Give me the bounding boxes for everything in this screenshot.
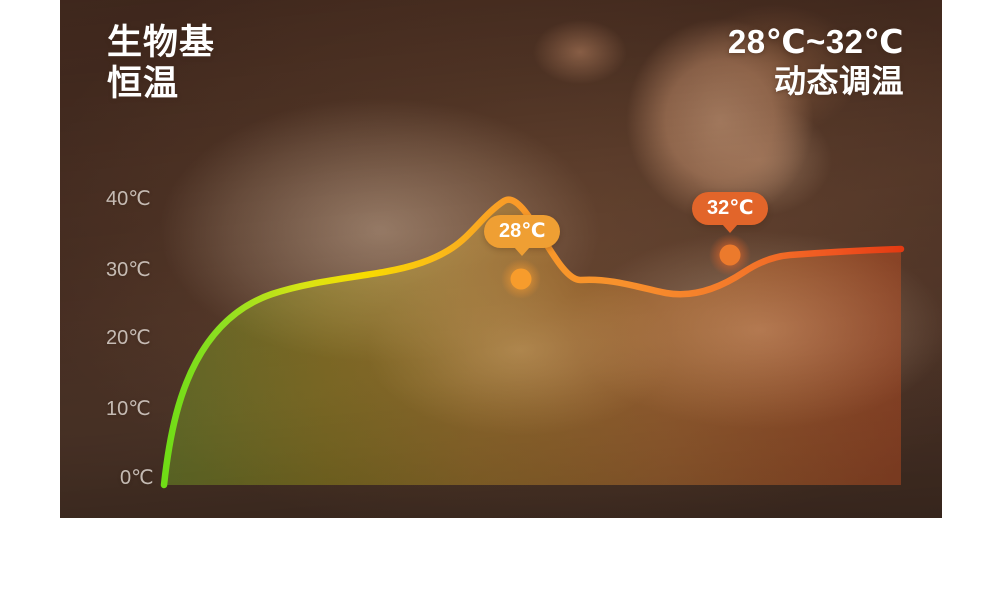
y-axis-label-20: 20℃ xyxy=(106,325,151,350)
headline-right-line1: 28℃~32℃ xyxy=(728,22,904,62)
headline-right-line2: 动态调温 xyxy=(728,62,904,100)
screenshot-root: 40℃ 30℃ 20℃ 10℃ 0℃ 28℃ 32℃ 生物基 恒温 28℃~32… xyxy=(0,0,1000,600)
data-point-28c-dot xyxy=(511,269,532,290)
product-banner: 40℃ 30℃ 20℃ 10℃ 0℃ 28℃ 32℃ 生物基 恒温 28℃~32… xyxy=(60,0,942,518)
data-point-32c-dot xyxy=(720,245,741,266)
tooltip-32c[interactable]: 32℃ xyxy=(692,192,768,225)
y-axis-label-0: 0℃ xyxy=(120,465,154,490)
data-point-32c[interactable] xyxy=(709,234,751,276)
data-point-28c[interactable] xyxy=(501,259,541,299)
tooltip-28c[interactable]: 28℃ xyxy=(484,215,560,248)
headline-right: 28℃~32℃ 动态调温 xyxy=(728,22,904,100)
y-axis-label-40: 40℃ xyxy=(106,186,151,211)
headline-left: 生物基 恒温 xyxy=(107,22,215,105)
y-axis-label-10: 10℃ xyxy=(106,396,151,421)
y-axis-label-30: 30℃ xyxy=(106,257,151,282)
